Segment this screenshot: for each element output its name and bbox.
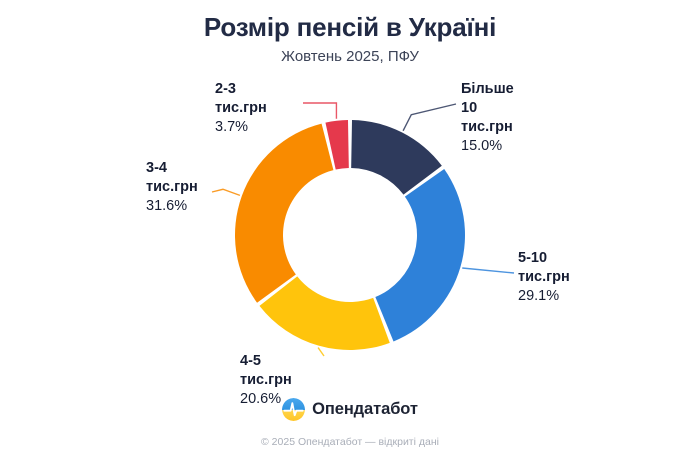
- slice-label-line-2: тис.грн: [240, 371, 292, 390]
- copyright-text: © 2025 Опендатабот — відкриті дані: [0, 436, 700, 448]
- slice-label-line-1: 4-5: [240, 352, 292, 371]
- leader-line: [462, 268, 514, 273]
- slice-label-line-1: Більше: [461, 80, 514, 99]
- slice-label-more-10: Більше 10 тис.грн 15.0%: [461, 80, 514, 156]
- slice-value-more-10: 15.0%: [461, 137, 514, 156]
- slice-label-line-2: 10: [461, 99, 514, 118]
- slice-label-line-2: тис.грн: [146, 178, 198, 197]
- leader-line: [318, 348, 324, 356]
- slice-label-line-3: тис.грн: [461, 118, 514, 137]
- slice-label-3-4: 3-4 тис.грн 31.6%: [146, 159, 198, 216]
- leader-line: [303, 103, 336, 119]
- brand-name: Опендатабот: [312, 400, 418, 419]
- donut-slice[interactable]: [235, 124, 333, 303]
- brand-footer: Опендатабот: [0, 398, 700, 421]
- donut-slice[interactable]: [375, 169, 465, 341]
- slice-label-2-3: 2-3 тис.грн 3.7%: [215, 80, 267, 137]
- leader-line: [403, 104, 456, 131]
- slice-value-2-3: 3.7%: [215, 118, 267, 137]
- leader-line: [212, 189, 240, 195]
- slice-label-line-1: 3-4: [146, 159, 198, 178]
- slice-value-5-10: 29.1%: [518, 287, 570, 306]
- pension-size-infographic: Розмір пенсій в Україні Жовтень 2025, ПФ…: [0, 0, 700, 459]
- slice-label-line-1: 5-10: [518, 249, 570, 268]
- slice-value-3-4: 31.6%: [146, 197, 198, 216]
- slice-label-5-10: 5-10 тис.грн 29.1%: [518, 249, 570, 306]
- donut-chart-svg: [0, 0, 700, 459]
- donut-slice-group: [235, 120, 465, 350]
- opendatabot-pulse-icon: [282, 398, 305, 421]
- slice-label-line-2: тис.грн: [518, 268, 570, 287]
- slice-label-line-1: 2-3: [215, 80, 267, 99]
- donut-slice[interactable]: [259, 276, 389, 350]
- slice-label-line-2: тис.грн: [215, 99, 267, 118]
- donut-chart: [0, 0, 700, 459]
